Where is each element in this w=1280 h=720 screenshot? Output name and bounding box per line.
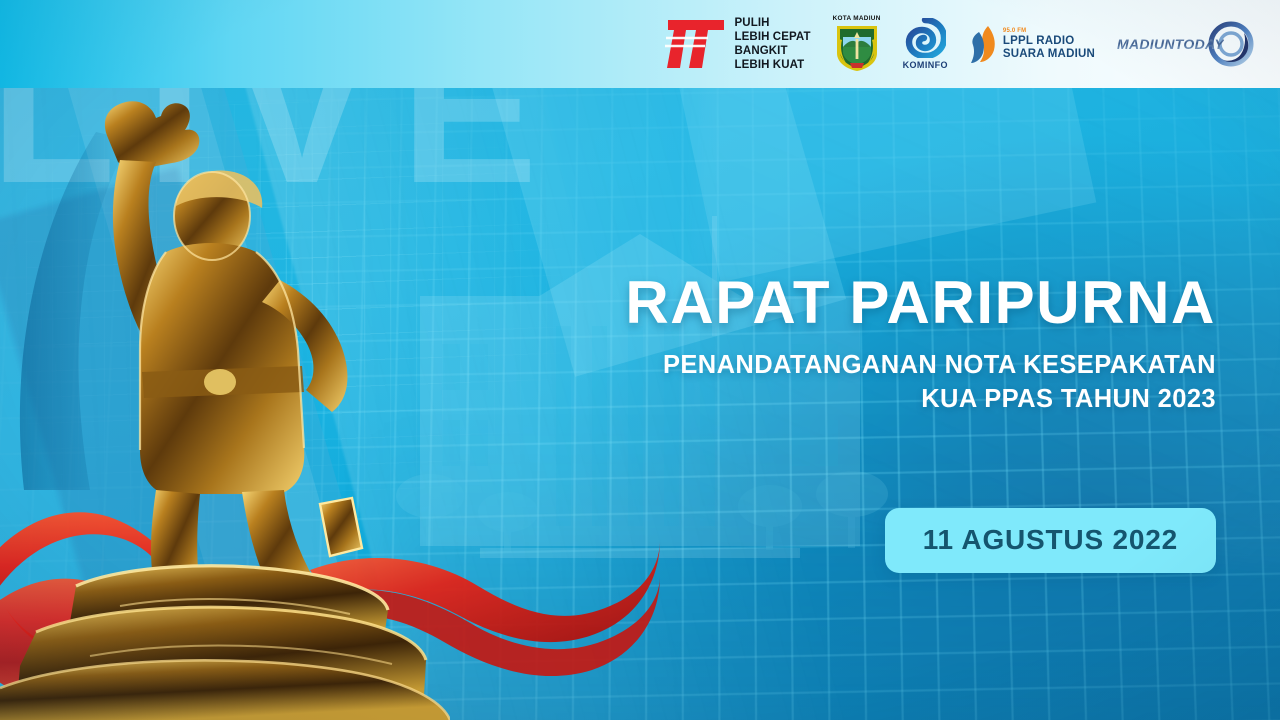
logo-madiuntoday: MADIUNTODAY	[1117, 21, 1254, 67]
event-date-badge: 11 AGUSTUS 2022	[885, 508, 1216, 573]
slogan-line-1: PULIH	[735, 16, 811, 30]
logo-kota-madiun: KOTA MADIUN	[833, 15, 881, 73]
lppl-fm-label: 95.0 FM	[1003, 28, 1095, 35]
hut-ri-77-slogan: PULIH LEBIH CEPAT BANGKIT LEBIH KUAT	[735, 16, 811, 73]
lppl-line-2: SUARA MADIUN	[1003, 48, 1095, 61]
headline-block: RAPAT PARIPURNA PENANDATANGANAN NOTA KES…	[516, 272, 1216, 417]
event-title: RAPAT PARIPURNA	[516, 272, 1216, 333]
event-subtitle: PENANDATANGANAN NOTA KESEPAKATAN KUA PPA…	[516, 349, 1216, 416]
seventy-seven-mark-icon	[664, 16, 726, 72]
logo-kominfo: KOMINFO	[903, 18, 948, 70]
partner-logo-bar: PULIH LEBIH CEPAT BANGKIT LEBIH KUAT KOT…	[0, 0, 1280, 88]
madiuntoday-wordmark: MADIUNTODAY	[1117, 36, 1224, 52]
slogan-line-4: LEBIH KUAT	[735, 58, 811, 72]
lppl-line-1: LPPL RADIO	[1003, 35, 1095, 48]
logo-lppl-radio: 95.0 FM LPPL RADIO SUARA MADIUN	[970, 24, 1095, 64]
event-subtitle-line-2: KUA PPAS TAHUN 2023	[516, 383, 1216, 417]
broadcast-title-card: LIVE	[0, 0, 1280, 720]
lppl-flame-icon	[970, 24, 998, 64]
kota-madiun-crest-icon	[834, 23, 880, 73]
slogan-line-2: LEBIH CEPAT	[735, 30, 811, 44]
kominfo-wordmark: KOMINFO	[903, 60, 948, 70]
kota-madiun-caption: KOTA MADIUN	[833, 15, 881, 22]
slogan-line-3: BANGKIT	[735, 44, 811, 58]
logo-hut-ri-77: PULIH LEBIH CEPAT BANGKIT LEBIH KUAT	[664, 16, 811, 73]
kominfo-globe-icon	[904, 18, 946, 58]
event-subtitle-line-1: PENANDATANGANAN NOTA KESEPAKATAN	[516, 349, 1216, 383]
